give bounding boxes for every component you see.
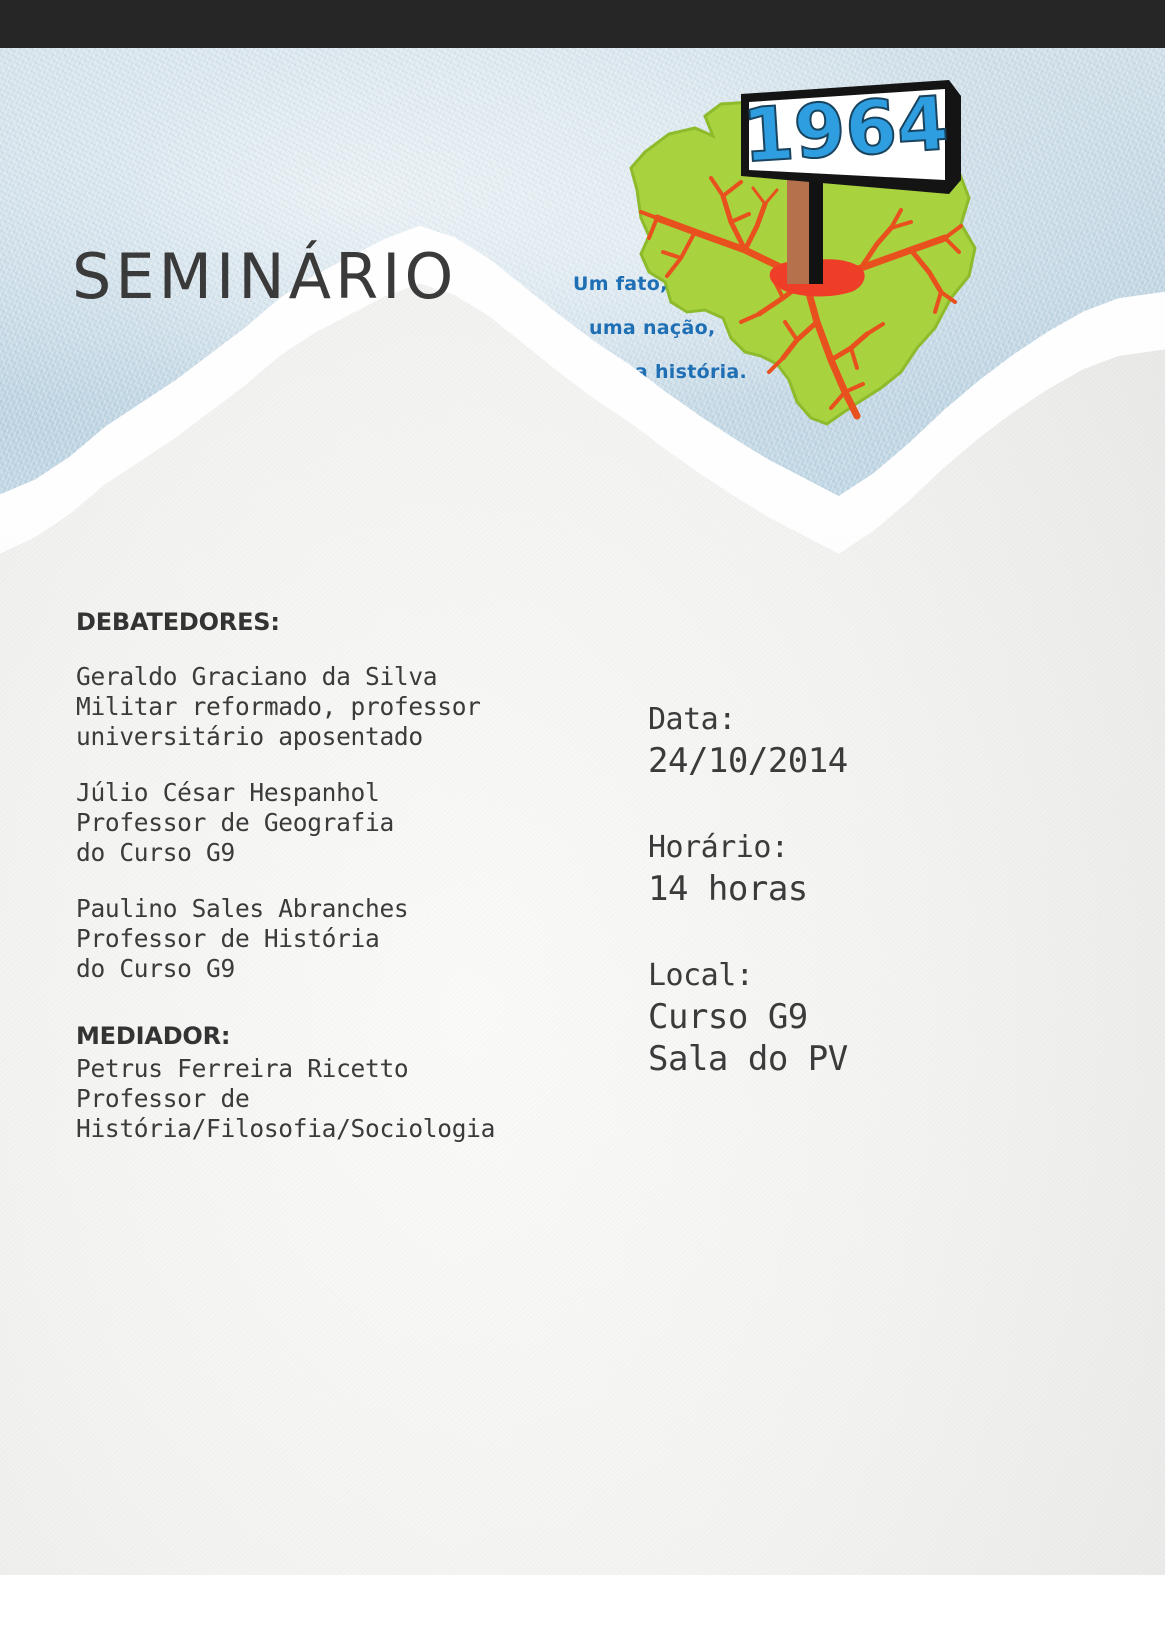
mediator-entry: Petrus Ferreira Ricetto Professor de His… <box>76 1054 596 1144</box>
sign-year-text: 1964 <box>740 81 951 180</box>
detail-date: Data: 24/10/2014 <box>648 700 1048 782</box>
page-title: SEMINÁRIO <box>72 240 457 313</box>
mediador-heading: MEDIADOR: <box>76 1022 596 1050</box>
sign-board: 1964 <box>740 80 961 194</box>
debater-name: Paulino Sales Abranches <box>76 894 596 924</box>
debater-name: Júlio César Hespanhol <box>76 778 596 808</box>
mediator-name: Petrus Ferreira Ricetto <box>76 1054 596 1084</box>
detail-label: Horário: <box>648 828 1048 868</box>
detail-location: Local: Curso G9 Sala do PV <box>648 956 1048 1080</box>
footer: SEMEANDO ATITUDES ☎ 3623-1877 www.curso-… <box>0 1355 1165 1575</box>
debatedores-heading: DEBATEDORES: <box>76 608 596 636</box>
detail-time: Horário: 14 horas <box>648 828 1048 910</box>
top-black-bar <box>0 0 1165 48</box>
seminar-poster: 1964 Um fato, uma nação, uma história. S… <box>0 0 1165 1648</box>
debater-role: Professor de História <box>76 924 596 954</box>
sign-post <box>787 168 809 284</box>
debater-name: Geraldo Graciano da Silva <box>76 662 596 692</box>
mediator-role: Professor de <box>76 1084 596 1114</box>
detail-label: Data: <box>648 700 1048 740</box>
detail-value: 24/10/2014 <box>648 740 1048 782</box>
debater-role: Militar reformado, professor <box>76 692 596 722</box>
debater-role: do Curso G9 <box>76 838 596 868</box>
event-details-column: Data: 24/10/2014 Horário: 14 horas Local… <box>648 700 1048 1126</box>
detail-value: 14 horas <box>648 868 1048 910</box>
debater-role: Professor de Geografia <box>76 808 596 838</box>
mediator-role: História/Filosofia/Sociologia <box>76 1114 596 1144</box>
participants-column: DEBATEDORES: Geraldo Graciano da Silva M… <box>76 608 596 1144</box>
debater-role: do Curso G9 <box>76 954 596 984</box>
bottom-white-strip <box>0 1575 1165 1648</box>
detail-value: Sala do PV <box>648 1038 1048 1080</box>
tagline-line-1: Um fato, <box>555 262 785 306</box>
detail-label: Local: <box>648 956 1048 996</box>
debater-entry: Geraldo Graciano da Silva Militar reform… <box>76 662 596 752</box>
detail-value: Curso G9 <box>648 996 1048 1038</box>
sign-post-shadow <box>807 172 823 284</box>
debater-entry: Paulino Sales Abranches Professor de His… <box>76 894 596 984</box>
debater-entry: Júlio César Hespanhol Professor de Geogr… <box>76 778 596 868</box>
debater-role: universitário aposentado <box>76 722 596 752</box>
